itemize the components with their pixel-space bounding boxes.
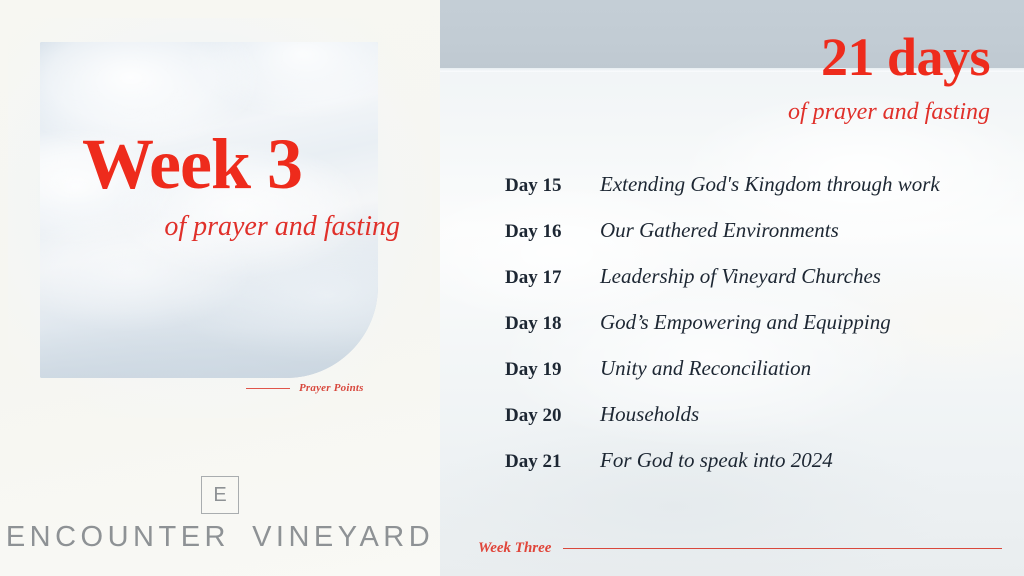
week-title: Week 3	[82, 128, 382, 200]
day-row: Day 15Extending God's Kingdom through wo…	[505, 172, 1015, 218]
logo-word-vineyard: VINEYARD	[252, 521, 434, 553]
day-topic: Households	[600, 402, 699, 427]
logo-mark-icon: E	[201, 476, 239, 514]
day-list: Day 15Extending God's Kingdom through wo…	[505, 172, 1015, 494]
prayer-points-label: Prayer Points	[299, 382, 364, 394]
day-label: Day 18	[505, 313, 600, 335]
presentation-slide: Week 3 of prayer and fasting Prayer Poin…	[0, 0, 1024, 576]
day-label: Day 15	[505, 175, 600, 197]
day-topic: Our Gathered Environments	[600, 218, 839, 243]
days-subheading: of prayer and fasting	[788, 100, 990, 124]
day-label: Day 19	[505, 359, 600, 381]
sky-photo-card	[40, 42, 378, 378]
day-topic: For God to speak into 2024	[600, 448, 833, 473]
week-subtitle: of prayer and fasting	[82, 212, 400, 243]
footer-week-tag: Week Three	[478, 540, 551, 557]
sky-haze-overlay	[40, 42, 378, 378]
day-topic: Leadership of Vineyard Churches	[600, 264, 881, 289]
day-label: Day 17	[505, 267, 600, 289]
day-row: Day 18God’s Empowering and Equipping	[505, 310, 1015, 356]
day-topic: God’s Empowering and Equipping	[600, 310, 891, 335]
left-panel: Week 3 of prayer and fasting Prayer Poin…	[0, 0, 440, 576]
prayer-points-caption: Prayer Points	[246, 382, 386, 394]
day-topic: Extending God's Kingdom through work	[600, 172, 940, 197]
day-label: Day 16	[505, 221, 600, 243]
day-row: Day 20Households	[505, 402, 1015, 448]
logo-word-spacer	[230, 521, 252, 553]
day-topic: Unity and Reconciliation	[600, 356, 811, 381]
days-heading: 21 days	[821, 30, 990, 84]
day-row: Day 19Unity and Reconciliation	[505, 356, 1015, 402]
slide-footer: Week Three	[478, 540, 1002, 557]
logo-word-encounter: ENCOUNTER	[6, 521, 230, 553]
day-row: Day 16Our Gathered Environments	[505, 218, 1015, 264]
brand-logo: E ENCOUNTER VINEYARD	[0, 476, 440, 554]
caption-rule	[246, 388, 290, 389]
day-label: Day 20	[505, 405, 600, 427]
footer-rule	[563, 548, 1002, 549]
day-label: Day 21	[505, 451, 600, 473]
day-row: Day 21For God to speak into 2024	[505, 448, 1015, 494]
right-panel: 21 days of prayer and fasting Day 15Exte…	[440, 0, 1024, 576]
logo-wordmark: ENCOUNTER VINEYARD	[6, 521, 434, 554]
day-row: Day 17Leadership of Vineyard Churches	[505, 264, 1015, 310]
